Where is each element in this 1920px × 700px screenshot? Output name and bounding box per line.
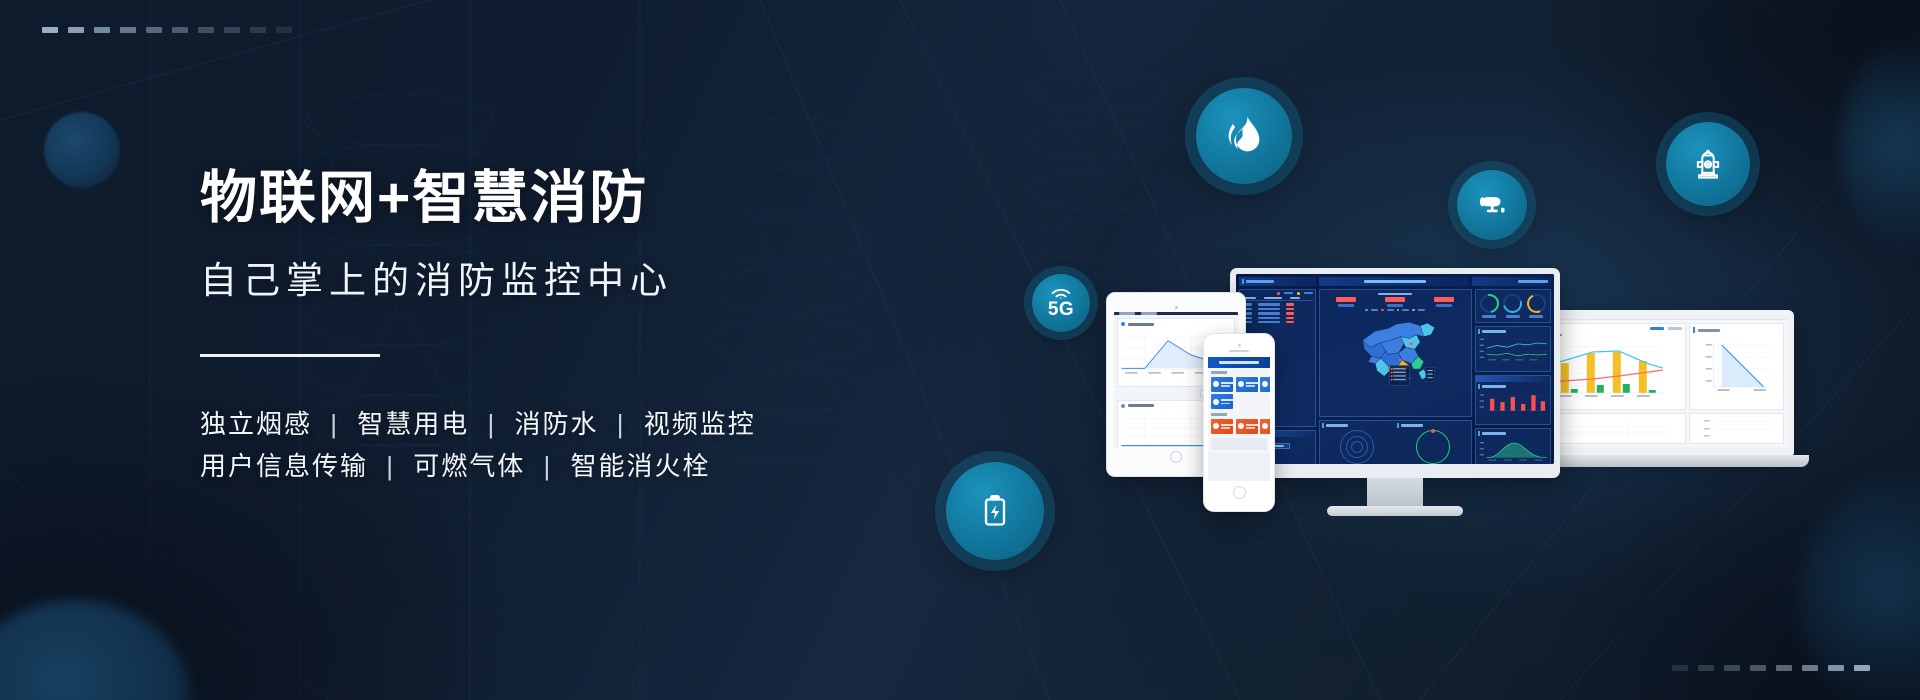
- feature-separator: |: [377, 451, 404, 481]
- kpi-1: [1336, 297, 1356, 307]
- dash-main-title: [1319, 277, 1469, 286]
- tablet-home-button[interactable]: [1170, 451, 1182, 463]
- phone-tile-grid-orange: [1211, 419, 1267, 434]
- dash-panel-header-left: [1239, 277, 1316, 286]
- phone-body: [1203, 333, 1275, 512]
- phone-tile[interactable]: [1211, 377, 1233, 392]
- kpi-2: [1385, 297, 1405, 307]
- battery-icon: [946, 462, 1044, 560]
- phone-footer-block: [1211, 438, 1267, 450]
- dash-right-column: [1475, 289, 1552, 464]
- china-map-card: [1319, 289, 1472, 417]
- flame-glyph: [1221, 113, 1267, 159]
- feature-separator: |: [321, 409, 348, 439]
- phone-tile-grid-blue: [1211, 377, 1267, 410]
- tablet-nav-item[interactable]: [1141, 312, 1157, 315]
- page-title: 物联网+智慧消防: [200, 168, 920, 230]
- phone-speaker: [1229, 350, 1249, 352]
- wifi-arc-glyph: [1050, 288, 1072, 299]
- gauges-card: [1475, 289, 1552, 323]
- tablet-nav-item[interactable]: [1119, 312, 1135, 315]
- smartphone: [1203, 333, 1275, 512]
- center-lower-card: [1319, 420, 1472, 464]
- trend-chart-card: [1475, 326, 1552, 372]
- decor-blob-top-left: [44, 112, 120, 188]
- decor-dashes-bottom-right: [1672, 665, 1870, 671]
- progress-ring-widget: [1416, 430, 1450, 464]
- dash-panel-header-right: [1472, 277, 1552, 286]
- battery-bolt-glyph: [975, 491, 1015, 531]
- feature-item: 视频监控: [644, 409, 756, 439]
- dash-body: [1239, 289, 1551, 464]
- bar-chart-card: [1475, 375, 1552, 425]
- phone-home-button[interactable]: [1233, 486, 1246, 499]
- phone-tile[interactable]: [1236, 377, 1258, 392]
- 5g-icon: 5G: [1032, 274, 1090, 332]
- monitor-base: [1327, 506, 1463, 516]
- divider-rule: [200, 354, 380, 357]
- page-subtitle: 自己掌上的消防监控中心: [200, 250, 920, 304]
- tablet-camera: [1175, 306, 1178, 309]
- trend-chart: [1478, 334, 1549, 364]
- fire-hydrant-glyph: [1689, 145, 1727, 183]
- feature-separator: |: [479, 409, 506, 439]
- phone-screen: [1208, 357, 1270, 481]
- feature-separator: |: [535, 451, 562, 481]
- feature-item: 智慧用电: [357, 409, 469, 439]
- phone-tile[interactable]: [1260, 419, 1270, 434]
- hydrant-icon: [1666, 122, 1750, 206]
- decor-blob-top-right: [1840, 30, 1920, 260]
- feature-list: 独立烟感 | 智慧用电 | 消防水 | 视频监控 用户信息传输 | 可燃气体 |…: [200, 403, 920, 487]
- hero-copy: 物联网+智慧消防 自己掌上的消防监控中心 独立烟感 | 智慧用电 | 消防水 |…: [200, 168, 920, 487]
- tablet-nav: [1114, 312, 1238, 315]
- feature-line-2: 用户信息传输 | 可燃气体 | 智能消火栓: [200, 445, 920, 487]
- bar-chart: [1478, 389, 1549, 417]
- camera-icon: [1457, 170, 1527, 240]
- feature-item: 用户信息传输: [200, 451, 368, 481]
- cctv-camera-glyph: [1475, 188, 1509, 222]
- flame-icon: [1196, 88, 1292, 184]
- 5g-stack: 5G: [1048, 288, 1074, 319]
- gauge-3: [1527, 294, 1546, 313]
- gauge-2: [1503, 294, 1522, 313]
- phone-tile[interactable]: [1211, 419, 1233, 434]
- feature-separator: |: [608, 409, 635, 439]
- hero-banner: 物联网+智慧消防 自己掌上的消防监控中心 独立烟感 | 智慧用电 | 消防水 |…: [0, 0, 1920, 700]
- phone-app-header: [1208, 357, 1270, 368]
- laptop-bottom-axis: [1693, 417, 1780, 439]
- 5g-label: 5G: [1048, 300, 1074, 319]
- feature-item: 消防水: [515, 409, 599, 439]
- dash-center-column: [1319, 289, 1472, 464]
- feature-item: 独立烟感: [200, 409, 312, 439]
- phone-camera: [1238, 344, 1241, 347]
- tablet-card-title: [1118, 319, 1234, 329]
- phone-tile[interactable]: [1260, 377, 1270, 392]
- china-map: [1341, 313, 1449, 389]
- monitor-dashboard: [1236, 274, 1554, 464]
- laptop-area-chart: [1693, 335, 1780, 397]
- gauge-1: [1480, 294, 1499, 313]
- desktop-monitor: [1230, 268, 1560, 516]
- area-chart: [1478, 436, 1549, 464]
- monitor-bezel: [1230, 268, 1560, 478]
- area-chart-card: [1475, 428, 1552, 464]
- device-mockup-cluster: [1120, 280, 1880, 600]
- phone-tile[interactable]: [1211, 394, 1233, 409]
- monitor-screen: [1236, 274, 1554, 464]
- feature-line-1: 独立烟感 | 智慧用电 | 消防水 | 视频监控: [200, 403, 920, 445]
- decor-blob-bottom-left: [0, 600, 190, 700]
- phone-app-body: [1208, 368, 1270, 452]
- feature-item: 可燃气体: [413, 451, 525, 481]
- phone-tile[interactable]: [1236, 419, 1258, 434]
- radar-widget: [1340, 430, 1374, 464]
- decor-dashes-top-left: [42, 27, 292, 33]
- feature-item: 智能消火栓: [571, 451, 711, 481]
- monitor-neck: [1367, 478, 1423, 506]
- kpi-3: [1434, 297, 1454, 307]
